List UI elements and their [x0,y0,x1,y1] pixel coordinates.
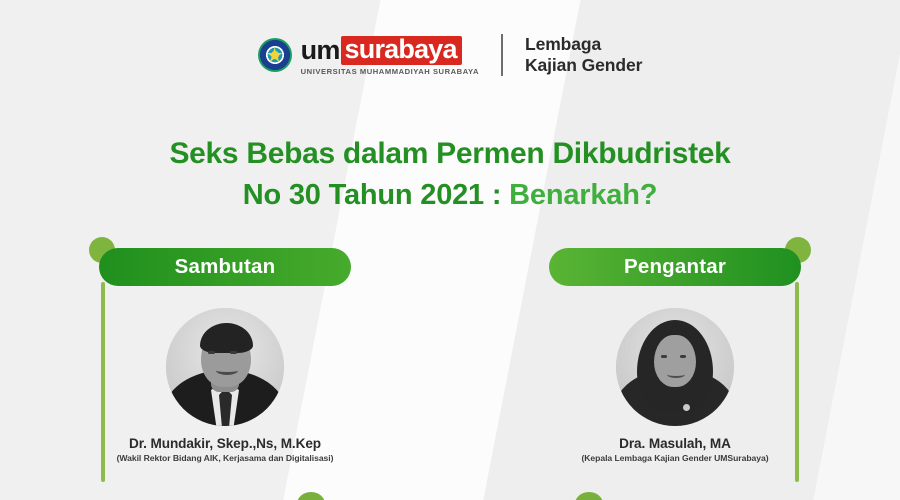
wordmark-surabaya: surabaya [341,36,462,65]
title-line-2-accent: Benarkah? [509,179,657,211]
speaker-role: (Wakil Rektor Bidang AIK, Kerjasama dan … [117,453,334,463]
organization-name: Lembaga Kajian Gender [525,34,642,77]
title-line-1: Seks Bebas dalam Permen Dikbudristek [0,135,900,173]
badge-anchor: Pengantar [549,248,801,286]
portrait-smile [667,371,685,378]
organization-line-2: Kajian Gender [525,55,642,76]
badge-pengantar: Pengantar [549,248,801,286]
portrait-eye-left [661,355,667,358]
poster-canvas: um surabaya UNIVERSITAS MUHAMMADIYAH SUR… [0,0,900,500]
speaker-role: (Kepala Lembaga Kajian Gender UMSurabaya… [581,453,768,463]
header-logo-lockup: um surabaya UNIVERSITAS MUHAMMADIYAH SUR… [0,34,900,77]
um-surabaya-logo: um surabaya UNIVERSITAS MUHAMMADIYAH SUR… [258,36,479,76]
university-seal-icon [258,38,292,72]
portrait-dr-mundakir [166,308,284,426]
portrait-brooch [683,404,690,411]
badge-stem-line [101,282,105,482]
portrait-smile [216,366,238,375]
badge-anchor: Sambutan [99,248,351,286]
badge-stem-line [795,282,799,482]
portrait-eye-right [230,351,237,354]
page-title: Seks Bebas dalam Permen Dikbudristek No … [0,135,900,213]
portrait-eye-left [208,351,215,354]
speakers-section: Sambutan Dr. Mundakir, Skep.,Ns, M.Kep (… [0,248,900,463]
speaker-name: Dra. Masulah, MA [619,436,731,451]
organization-line-1: Lembaga [525,34,642,55]
title-line-2-main: No 30 Tahun 2021 : [243,179,509,211]
speaker-card-pengantar: Pengantar Dra. Masulah, MA (Kepala Lemba… [450,248,900,463]
speaker-card-sambutan: Sambutan Dr. Mundakir, Skep.,Ns, M.Kep (… [0,248,450,463]
badge-sambutan: Sambutan [99,248,351,286]
header-divider [501,34,503,76]
wordmark-subtitle: UNIVERSITAS MUHAMMADIYAH SURABAYA [301,68,479,76]
portrait-dra-masulah [616,308,734,426]
portrait-eye-right [680,355,686,358]
title-line-2: No 30 Tahun 2021 : Benarkah? [0,177,900,213]
wordmark-um: um [301,37,341,64]
um-surabaya-wordmark: um surabaya UNIVERSITAS MUHAMMADIYAH SUR… [301,36,479,76]
wordmark-row: um surabaya [301,36,479,65]
portrait-face [654,335,696,387]
speaker-name: Dr. Mundakir, Skep.,Ns, M.Kep [129,436,321,451]
